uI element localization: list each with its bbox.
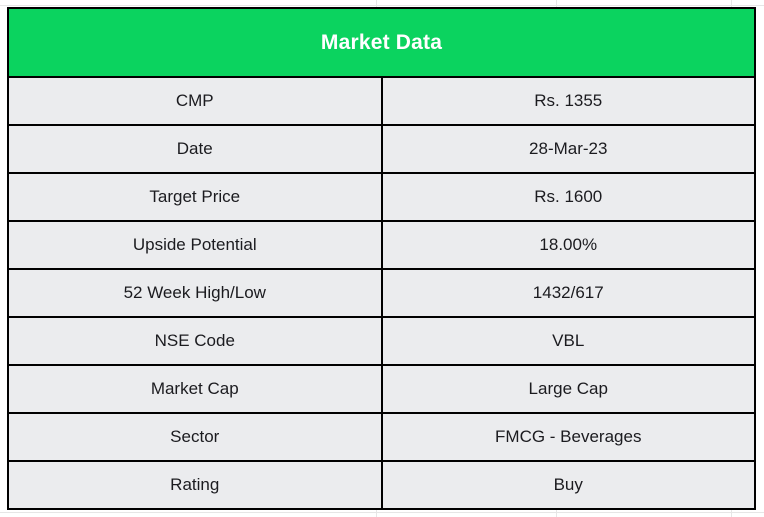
row-value: Rs. 1355 xyxy=(382,77,756,125)
table-row: Upside Potential18.00% xyxy=(8,221,755,269)
row-value: 18.00% xyxy=(382,221,756,269)
row-value: Rs. 1600 xyxy=(382,173,756,221)
table-row: CMPRs. 1355 xyxy=(8,77,755,125)
table-body: CMPRs. 1355Date28-Mar-23Target PriceRs. … xyxy=(8,77,755,509)
row-value: Large Cap xyxy=(382,365,756,413)
row-value: VBL xyxy=(382,317,756,365)
row-value: Buy xyxy=(382,461,756,509)
row-label: Rating xyxy=(8,461,382,509)
grid-line-horizontal xyxy=(0,512,764,513)
table-row: SectorFMCG - Beverages xyxy=(8,413,755,461)
table-row: Date28-Mar-23 xyxy=(8,125,755,173)
table-row: Target PriceRs. 1600 xyxy=(8,173,755,221)
row-label: CMP xyxy=(8,77,382,125)
row-value: FMCG - Beverages xyxy=(382,413,756,461)
row-label: Upside Potential xyxy=(8,221,382,269)
spreadsheet-canvas: Market Data CMPRs. 1355Date28-Mar-23Targ… xyxy=(0,0,764,517)
row-label: Market Cap xyxy=(8,365,382,413)
row-value: 28-Mar-23 xyxy=(382,125,756,173)
table-row: NSE CodeVBL xyxy=(8,317,755,365)
row-label: Sector xyxy=(8,413,382,461)
table-row: 52 Week High/Low1432/617 xyxy=(8,269,755,317)
table-row: RatingBuy xyxy=(8,461,755,509)
row-label: NSE Code xyxy=(8,317,382,365)
row-label: 52 Week High/Low xyxy=(8,269,382,317)
row-label: Date xyxy=(8,125,382,173)
table-row: Market CapLarge Cap xyxy=(8,365,755,413)
grid-line-horizontal xyxy=(0,5,764,6)
market-data-table: Market Data CMPRs. 1355Date28-Mar-23Targ… xyxy=(7,7,756,510)
table-header-row: Market Data xyxy=(8,8,755,77)
table-title: Market Data xyxy=(8,8,755,77)
row-label: Target Price xyxy=(8,173,382,221)
row-value: 1432/617 xyxy=(382,269,756,317)
